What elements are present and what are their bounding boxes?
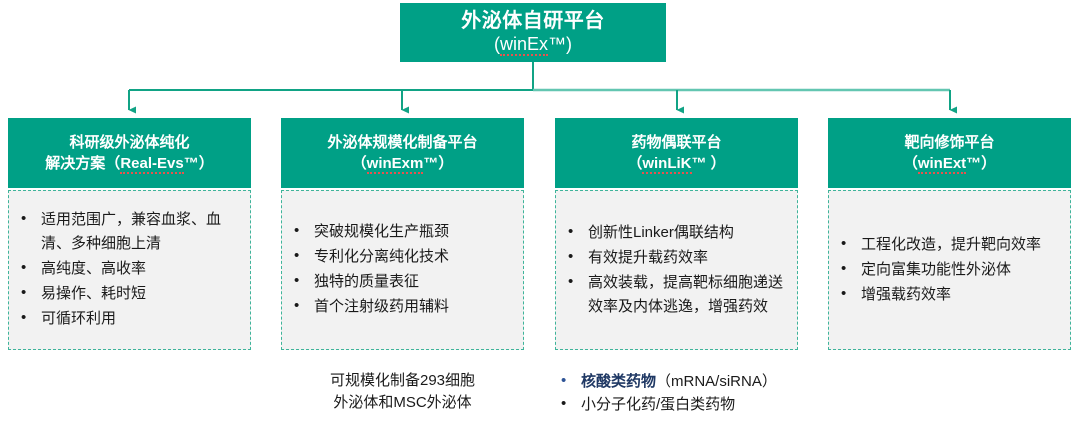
column-4-title-line1: 靶向修饰平台 xyxy=(904,132,994,153)
column-1-title-pre: 解决方案（ xyxy=(45,155,120,172)
list-item: 适用范围广，兼容血浆、血清、多种细胞上清 xyxy=(15,208,242,256)
list-item: 定向富集功能性外泌体 xyxy=(835,258,1062,282)
root-subtitle-tm: ™ xyxy=(548,34,566,54)
column-3-title-post: ） xyxy=(707,155,726,172)
column-1-header: 科研级外泌体纯化 解决方案（Real-Evs™） xyxy=(8,118,251,188)
list-item-small-molecule: 小分子化药/蛋白类药物 xyxy=(555,393,985,416)
column-1-title-line1: 科研级外泌体纯化 xyxy=(69,132,189,153)
diagram-canvas: 外泌体自研平台 (winEx™) 科研级外泌体纯化 解决方案（Real-Evs™… xyxy=(0,0,1078,430)
drug-type-list: 核酸类药物（mRNA/siRNA） 小分子化药/蛋白类药物 xyxy=(555,370,985,416)
column-2-header: 外泌体规模化制备平台 （winExm™） xyxy=(281,118,524,188)
column-3-title-line2: （winLiK™ ） xyxy=(627,153,725,174)
column-2-footnote: 可规模化制备293细胞 外泌体和MSC外泌体 xyxy=(281,370,524,414)
column-2-title-post: ） xyxy=(438,155,453,172)
column-3-title-pre: （ xyxy=(627,155,642,172)
list-item: 增强载药效率 xyxy=(835,283,1062,307)
column-2-title-name: winExm xyxy=(367,155,424,174)
list-item: 有效提升载药效率 xyxy=(562,246,789,270)
column-4-title-name: winExt xyxy=(918,155,966,174)
column-3-bullet-list: 创新性Linker偶联结构 有效提升载药效率 高效装载，提高靶标细胞递送效率及内… xyxy=(562,221,789,320)
list-item: 独特的质量表征 xyxy=(288,270,515,294)
column-4-title-tm: ™ xyxy=(966,155,981,172)
list-item: 易操作、耗时短 xyxy=(15,282,242,306)
list-item-nucleic-acid: 核酸类药物（mRNA/siRNA） xyxy=(555,370,985,393)
column-3-header: 药物偶联平台 （winLiK™ ） xyxy=(555,118,798,188)
root-node: 外泌体自研平台 (winEx™) xyxy=(400,3,666,62)
column-4-bullet-list: 工程化改造，提升靶向效率 定向富集功能性外泌体 增强载药效率 xyxy=(835,233,1062,308)
column-2-footnote-line2: 外泌体和MSC外泌体 xyxy=(281,392,524,414)
list-item: 创新性Linker偶联结构 xyxy=(562,221,789,245)
column-4-title-line2: （winExt™） xyxy=(903,153,996,174)
column-2-title-line2: （winExm™） xyxy=(352,153,454,174)
list-item: 首个注射级药用辅料 xyxy=(288,295,515,319)
column-1-title-post: ） xyxy=(199,155,214,172)
column-2-title-pre: （ xyxy=(352,155,367,172)
root-title: 外泌体自研平台 xyxy=(461,10,605,33)
column-1-title-name: Real-Evs xyxy=(120,155,183,174)
list-item: 高效装载，提高靶标细胞递送效率及内体逃逸，增强药效 xyxy=(562,271,789,319)
nucleic-acid-label: 核酸类药物 xyxy=(581,373,656,390)
column-2: 外泌体规模化制备平台 （winExm™） 突破规模化生产瓶颈 专利化分离纯化技术… xyxy=(281,118,524,350)
column-1: 科研级外泌体纯化 解决方案（Real-Evs™） 适用范围广，兼容血浆、血清、多… xyxy=(8,118,251,350)
column-3-title-line1: 药物偶联平台 xyxy=(631,132,721,153)
drug-type-footnote: 核酸类药物（mRNA/siRNA） 小分子化药/蛋白类药物 xyxy=(555,370,985,416)
column-3-title-tm: ™ xyxy=(692,155,707,172)
column-4-body: 工程化改造，提升靶向效率 定向富集功能性外泌体 增强载药效率 xyxy=(828,190,1071,350)
column-1-title-line2: 解决方案（Real-Evs™） xyxy=(45,153,213,174)
list-item: 可循环利用 xyxy=(15,307,242,331)
list-item: 突破规模化生产瓶颈 xyxy=(288,220,515,244)
column-1-title-tm: ™ xyxy=(184,155,199,172)
root-subtitle-close: ) xyxy=(566,34,572,54)
column-2-bullet-list: 突破规模化生产瓶颈 专利化分离纯化技术 独特的质量表征 首个注射级药用辅料 xyxy=(288,220,515,320)
column-4: 靶向修饰平台 （winExt™） 工程化改造，提升靶向效率 定向富集功能性外泌体… xyxy=(828,118,1071,350)
column-2-footnote-line1: 可规模化制备293细胞 xyxy=(281,370,524,392)
root-subtitle: (winEx™) xyxy=(494,33,572,55)
column-4-title-post: ） xyxy=(981,155,996,172)
column-4-header: 靶向修饰平台 （winExt™） xyxy=(828,118,1071,188)
root-subtitle-name: winEx xyxy=(500,34,548,56)
column-3-body: 创新性Linker偶联结构 有效提升载药效率 高效装载，提高靶标细胞递送效率及内… xyxy=(555,190,798,350)
list-item: 专利化分离纯化技术 xyxy=(288,245,515,269)
column-2-title-line1: 外泌体规模化制备平台 xyxy=(327,132,477,153)
column-3-title-name: winLiK xyxy=(642,155,691,174)
column-2-body: 突破规模化生产瓶颈 专利化分离纯化技术 独特的质量表征 首个注射级药用辅料 xyxy=(281,190,524,350)
nucleic-acid-suffix: （mRNA/siRNA） xyxy=(656,373,777,390)
list-item: 高纯度、高收率 xyxy=(15,257,242,281)
column-1-bullet-list: 适用范围广，兼容血浆、血清、多种细胞上清 高纯度、高收率 易操作、耗时短 可循环… xyxy=(15,208,242,332)
column-2-title-tm: ™ xyxy=(423,155,438,172)
column-1-body: 适用范围广，兼容血浆、血清、多种细胞上清 高纯度、高收率 易操作、耗时短 可循环… xyxy=(8,190,251,350)
list-item: 工程化改造，提升靶向效率 xyxy=(835,233,1062,257)
column-4-title-pre: （ xyxy=(903,155,918,172)
column-3: 药物偶联平台 （winLiK™ ） 创新性Linker偶联结构 有效提升载药效率… xyxy=(555,118,798,350)
